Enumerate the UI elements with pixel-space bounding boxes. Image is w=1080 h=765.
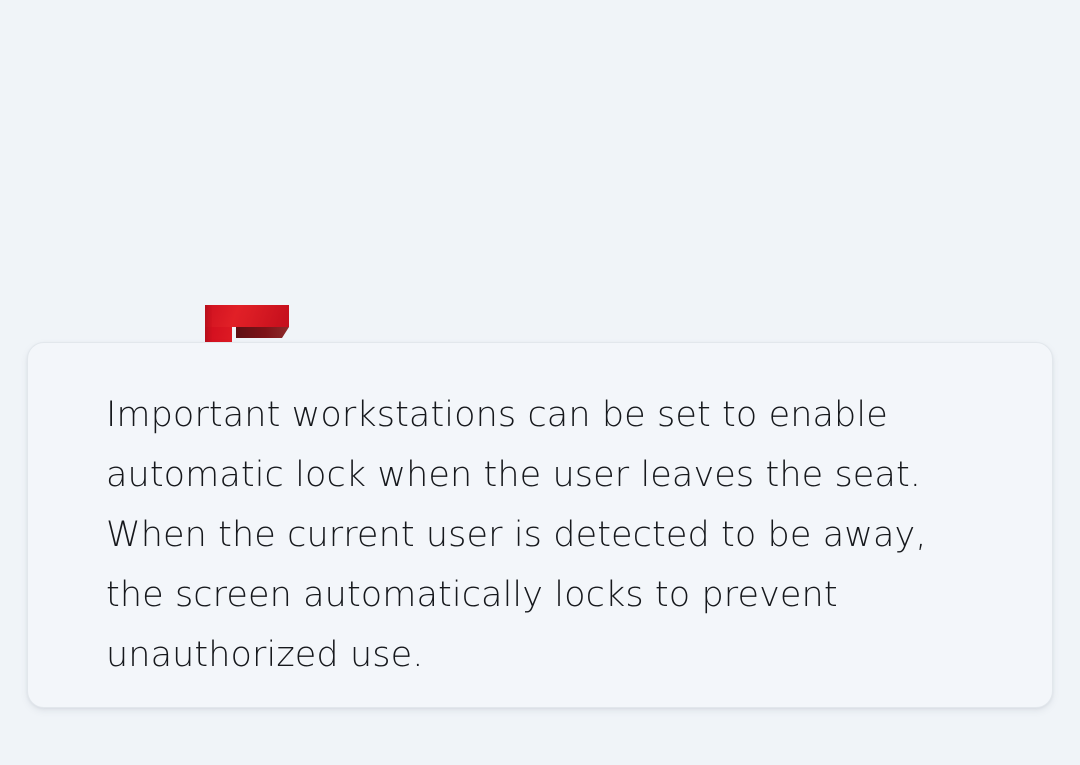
heading-block: Seat Security <box>0 150 1080 325</box>
description-line: unauthorized use. <box>106 625 1036 685</box>
numeral-top-bar <box>205 305 289 327</box>
description-line: Important workstations can be set to ena… <box>106 385 1036 445</box>
description-line: the screen automatically locks to preven… <box>106 565 1036 625</box>
description-line: When the current user is detected to be … <box>106 505 1036 565</box>
slide-canvas: Seat Security Important workstations can… <box>0 0 1080 765</box>
numeral-top-bevel <box>236 327 289 338</box>
description-line: automatic lock when the user leaves the … <box>106 445 1036 505</box>
description-card: Important workstations can be set to ena… <box>27 342 1053 708</box>
description-text: Important workstations can be set to ena… <box>106 385 1036 685</box>
